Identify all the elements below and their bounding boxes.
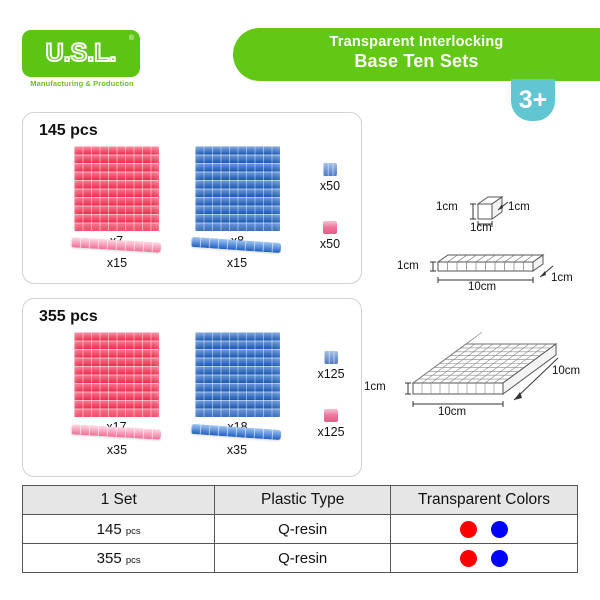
flat-depth-label: 10cm bbox=[552, 365, 580, 377]
usl-logo: U.S.L. ® bbox=[22, 30, 140, 77]
item-flat-red: x17 bbox=[74, 332, 159, 434]
item-cube-blue: x50 bbox=[308, 163, 352, 193]
item-quantity: x35 bbox=[71, 443, 163, 457]
color-swatch-red-icon bbox=[460, 521, 477, 538]
cell-colors bbox=[391, 544, 578, 573]
column-header-plastic: Plastic Type bbox=[215, 486, 391, 515]
item-cube-blue: x125 bbox=[306, 351, 356, 381]
cube-depth-label: 1cm bbox=[508, 201, 530, 213]
flat-blue-block bbox=[195, 332, 280, 417]
rod-depth-label: 1cm bbox=[551, 272, 573, 284]
item-rod-red: x35 bbox=[71, 427, 163, 457]
registered-mark-icon: ® bbox=[129, 35, 134, 42]
item-quantity: x15 bbox=[191, 256, 283, 270]
rod-red-block bbox=[71, 424, 161, 439]
product-panel-355: 355 pcs x17 x18 x35 x35 x125 x125 bbox=[22, 298, 362, 477]
flat-height-label: 1cm bbox=[364, 381, 386, 393]
banner-subtitle: Transparent Interlocking bbox=[233, 34, 600, 50]
cube-red-block bbox=[324, 409, 338, 422]
flat-red-block bbox=[74, 332, 159, 417]
color-swatch-red-icon bbox=[460, 550, 477, 567]
item-rod-red: x15 bbox=[71, 240, 163, 270]
product-spec-sheet: U.S.L. ® Manufacturing & Production Tran… bbox=[0, 0, 600, 600]
flat-length-label: 10cm bbox=[438, 406, 466, 418]
set-count-unit: pcs bbox=[126, 526, 141, 537]
panel-title: 145 pcs bbox=[39, 122, 98, 140]
cell-plastic-type: Q-resin bbox=[215, 544, 391, 573]
set-count-unit: pcs bbox=[126, 555, 141, 566]
cell-set-count: 145 pcs bbox=[23, 515, 215, 544]
item-rod-blue: x35 bbox=[191, 427, 283, 457]
rod-length-label: 10cm bbox=[468, 281, 496, 293]
diagram-unit-cube: 1cm 1cm 1cm bbox=[440, 192, 560, 237]
set-count-value: 145 bbox=[97, 521, 122, 538]
table-body: 145 pcs Q-resin 355 pcs Q-resin bbox=[23, 515, 578, 573]
cube-width-label: 1cm bbox=[470, 222, 492, 234]
item-quantity: x50 bbox=[308, 179, 352, 193]
product-panel-145: 145 pcs x7 x8 x15 x15 x50 x50 bbox=[22, 112, 362, 284]
item-quantity: x15 bbox=[71, 256, 163, 270]
title-banner: Transparent Interlocking Base Ten Sets bbox=[233, 28, 600, 81]
cube-height-label: 1cm bbox=[436, 201, 458, 213]
item-quantity: x125 bbox=[306, 425, 356, 439]
color-swatch-blue-icon bbox=[491, 550, 508, 567]
diagram-flat: 1cm 10cm 10cm bbox=[366, 330, 591, 430]
cube-blue-block bbox=[324, 351, 338, 364]
rod-red-block bbox=[71, 237, 161, 252]
cube-red-block bbox=[323, 221, 337, 234]
flat-drawing bbox=[366, 330, 591, 430]
cell-colors bbox=[391, 515, 578, 544]
column-header-set: 1 Set bbox=[23, 486, 215, 515]
flat-red-block bbox=[74, 146, 159, 231]
item-flat-blue: x8 bbox=[195, 146, 280, 248]
diagram-rod: 1cm 10cm 1cm bbox=[398, 250, 583, 305]
item-quantity: x50 bbox=[308, 237, 352, 251]
usl-logo-text: U.S.L. bbox=[22, 30, 140, 77]
item-flat-blue: x18 bbox=[195, 332, 280, 434]
item-cube-red: x50 bbox=[308, 221, 352, 251]
flat-blue-block bbox=[195, 146, 280, 231]
rod-blue-block bbox=[191, 237, 281, 253]
cube-blue-block bbox=[323, 163, 337, 176]
table-header: 1 Set Plastic Type Transparent Colors bbox=[23, 486, 578, 515]
table-header-row: 1 Set Plastic Type Transparent Colors bbox=[23, 486, 578, 515]
rod-height-label: 1cm bbox=[397, 260, 419, 272]
item-quantity: x125 bbox=[306, 367, 356, 381]
brand-tagline: Manufacturing & Production bbox=[22, 79, 142, 88]
column-header-colors: Transparent Colors bbox=[391, 486, 578, 515]
color-swatch-blue-icon bbox=[491, 521, 508, 538]
specification-table: 1 Set Plastic Type Transparent Colors 14… bbox=[22, 485, 578, 573]
banner-title: Base Ten Sets bbox=[233, 51, 600, 72]
table-row: 145 pcs Q-resin bbox=[23, 515, 578, 544]
item-quantity: x35 bbox=[191, 443, 283, 457]
unit-cube-drawing bbox=[440, 192, 560, 237]
cell-set-count: 355 pcs bbox=[23, 544, 215, 573]
age-badge: 3+ bbox=[511, 79, 555, 121]
item-rod-blue: x15 bbox=[191, 240, 283, 270]
item-cube-red: x125 bbox=[306, 409, 356, 439]
item-flat-red: x7 bbox=[74, 146, 159, 248]
table-row: 355 pcs Q-resin bbox=[23, 544, 578, 573]
set-count-value: 355 bbox=[97, 550, 122, 567]
cell-plastic-type: Q-resin bbox=[215, 515, 391, 544]
rod-blue-block bbox=[191, 424, 281, 440]
panel-title: 355 pcs bbox=[39, 308, 98, 326]
